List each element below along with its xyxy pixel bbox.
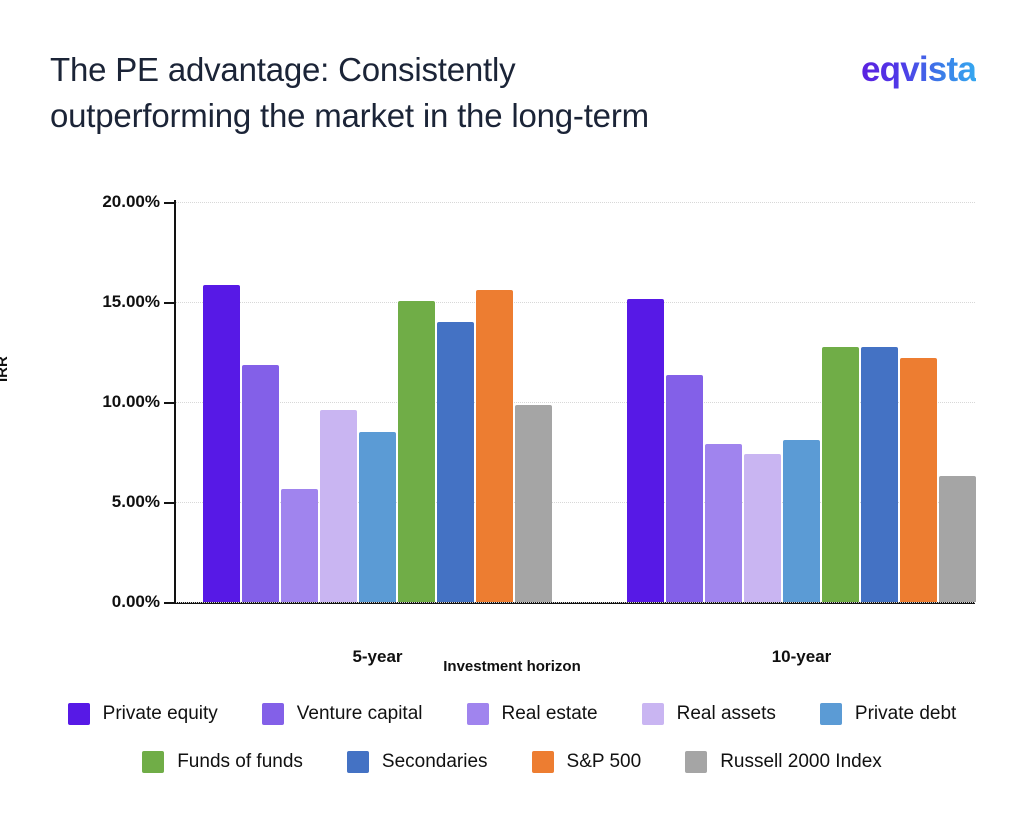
y-axis-tick-label: 5.00% <box>40 492 160 512</box>
page-title: The PE advantage: Consistently outperfor… <box>50 47 790 139</box>
legend-item[interactable]: Real estate <box>467 703 598 725</box>
legend-swatch-icon <box>262 703 284 725</box>
bar[interactable] <box>515 405 552 602</box>
legend-label: Real estate <box>502 703 598 725</box>
legend-item[interactable]: Secondaries <box>347 751 488 773</box>
y-axis-tick-mark <box>164 302 175 304</box>
gridline <box>176 602 975 603</box>
bar-group <box>627 202 976 602</box>
bar[interactable] <box>398 301 435 602</box>
bar[interactable] <box>705 444 742 602</box>
bar[interactable] <box>861 347 898 602</box>
bar[interactable] <box>476 290 513 602</box>
legend-item[interactable]: Funds of funds <box>142 751 303 773</box>
legend-label: S&P 500 <box>567 751 642 773</box>
bar[interactable] <box>744 454 781 602</box>
legend-label: Funds of funds <box>177 751 303 773</box>
bar[interactable] <box>242 365 279 602</box>
legend-swatch-icon <box>685 751 707 773</box>
x-axis-title: Investment horizon <box>0 658 1024 675</box>
y-axis-tick-mark <box>164 202 175 204</box>
y-axis-tick-label: 20.00% <box>40 192 160 212</box>
bar-chart: IRR 20.00%15.00%10.00%5.00%0.00% 5-year1… <box>0 170 1024 690</box>
y-axis-tick-label: 10.00% <box>40 392 160 412</box>
bar[interactable] <box>203 285 240 602</box>
bar[interactable] <box>939 476 976 602</box>
y-axis-title: IRR <box>0 356 11 382</box>
bar[interactable] <box>627 299 664 602</box>
y-axis-tick-label: 15.00% <box>40 292 160 312</box>
legend-swatch-icon <box>820 703 842 725</box>
y-axis-tick-mark <box>164 502 175 504</box>
legend-swatch-icon <box>642 703 664 725</box>
legend-label: Private debt <box>855 703 956 725</box>
chart-header: The PE advantage: Consistently outperfor… <box>0 0 1024 170</box>
legend-row-primary: Private equityVenture capitalReal estate… <box>0 690 1024 738</box>
legend-item[interactable]: Private equity <box>68 703 218 725</box>
bar[interactable] <box>320 410 357 602</box>
legend-item[interactable]: S&P 500 <box>532 751 642 773</box>
legend-swatch-icon <box>467 703 489 725</box>
legend-label: Secondaries <box>382 751 488 773</box>
bar[interactable] <box>666 375 703 602</box>
y-axis-tick-label: 0.00% <box>40 592 160 612</box>
bar[interactable] <box>822 347 859 602</box>
legend-swatch-icon <box>68 703 90 725</box>
legend-label: Private equity <box>103 703 218 725</box>
y-axis-tick-labels: 20.00%15.00%10.00%5.00%0.00% <box>20 170 160 640</box>
plot-area: 5-year10-year <box>176 202 975 602</box>
legend-swatch-icon <box>142 751 164 773</box>
legend-item[interactable]: Venture capital <box>262 703 423 725</box>
legend-swatch-icon <box>532 751 554 773</box>
legend-swatch-icon <box>347 751 369 773</box>
bar[interactable] <box>900 358 937 602</box>
y-axis-tick-mark <box>164 402 175 404</box>
legend-item[interactable]: Real assets <box>642 703 776 725</box>
legend-item[interactable]: Russell 2000 Index <box>685 751 882 773</box>
bar[interactable] <box>359 432 396 602</box>
y-axis-tick-mark <box>164 602 175 604</box>
legend-row-secondary: Funds of fundsSecondariesS&P 500Russell … <box>0 738 1024 786</box>
legend-label: Real assets <box>677 703 776 725</box>
chart-legend: Private equityVenture capitalReal estate… <box>0 690 1024 786</box>
bar[interactable] <box>437 322 474 602</box>
bar-group <box>203 202 552 602</box>
legend-label: Venture capital <box>297 703 423 725</box>
bar[interactable] <box>281 489 318 602</box>
bar[interactable] <box>783 440 820 602</box>
eqvista-logo: eqvista <box>861 50 976 90</box>
legend-label: Russell 2000 Index <box>720 751 882 773</box>
legend-item[interactable]: Private debt <box>820 703 956 725</box>
